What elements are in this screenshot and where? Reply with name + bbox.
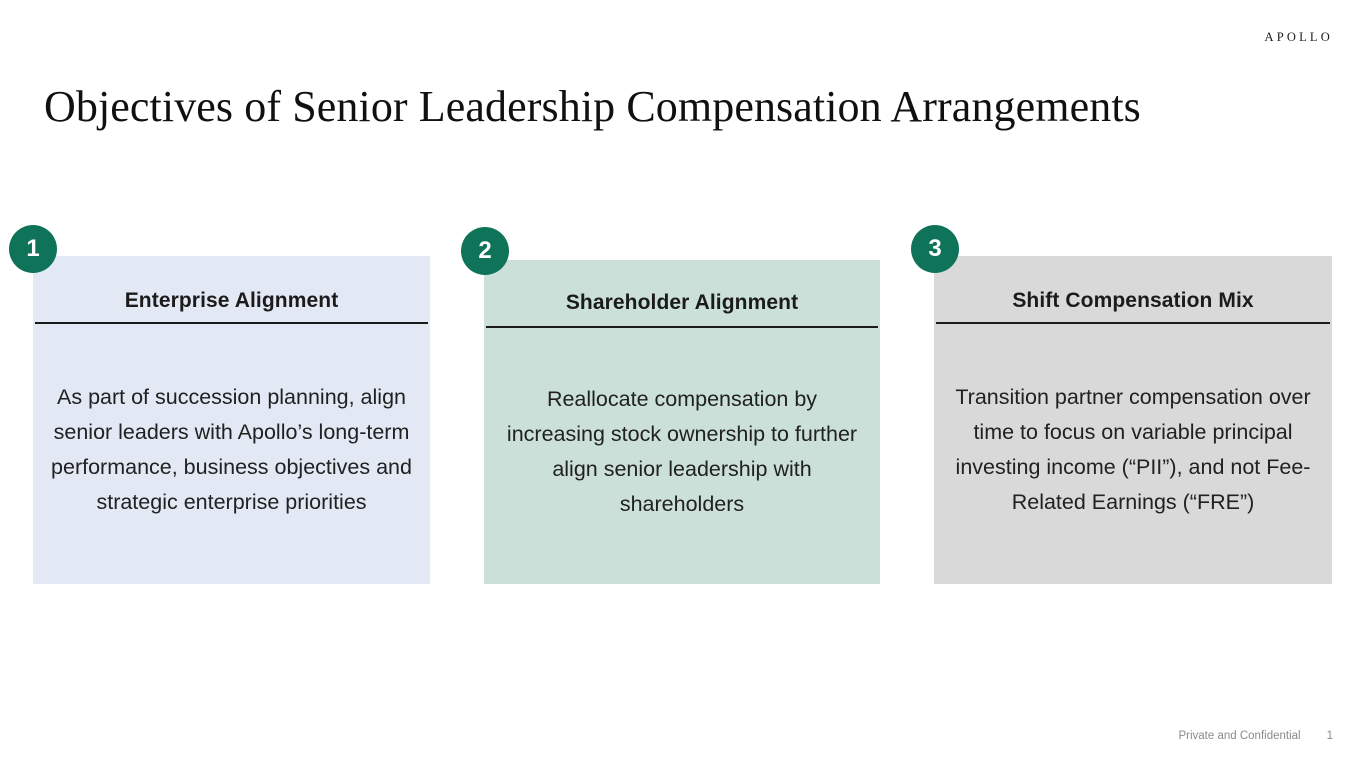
confidentiality-notice: Private and Confidential: [1178, 730, 1300, 742]
card-heading-2: Shareholder Alignment: [566, 291, 798, 315]
card-heading-1: Enterprise Alignment: [125, 289, 339, 313]
card-body-1: As part of succession planning, align se…: [33, 324, 430, 584]
page-number: 1: [1327, 730, 1333, 742]
card-enterprise-alignment: Enterprise Alignment As part of successi…: [33, 256, 430, 584]
card-number-badge-3: 3: [911, 225, 959, 273]
card-shift-compensation-mix: Shift Compensation Mix Transition partne…: [934, 256, 1332, 584]
card-body-text-1: As part of succession planning, align se…: [49, 380, 414, 519]
footer: Private and Confidential 1: [1178, 730, 1333, 742]
card-body-3: Transition partner compensation over tim…: [934, 324, 1332, 584]
card-body-2: Reallocate compensation by increasing st…: [484, 328, 880, 584]
card-header-2: Shareholder Alignment: [484, 260, 880, 326]
card-heading-3: Shift Compensation Mix: [1012, 289, 1253, 313]
slide: APOLLO Objectives of Senior Leadership C…: [0, 0, 1365, 768]
card-header-1: Enterprise Alignment: [33, 256, 430, 322]
card-header-3: Shift Compensation Mix: [934, 256, 1332, 322]
card-body-text-2: Reallocate compensation by increasing st…: [500, 382, 864, 521]
card-number-badge-1: 1: [9, 225, 57, 273]
card-shareholder-alignment: Shareholder Alignment Reallocate compens…: [484, 260, 880, 584]
cards-container: 1 Enterprise Alignment As part of succes…: [0, 0, 1365, 768]
card-number-badge-2: 2: [461, 227, 509, 275]
card-body-text-3: Transition partner compensation over tim…: [950, 380, 1316, 519]
